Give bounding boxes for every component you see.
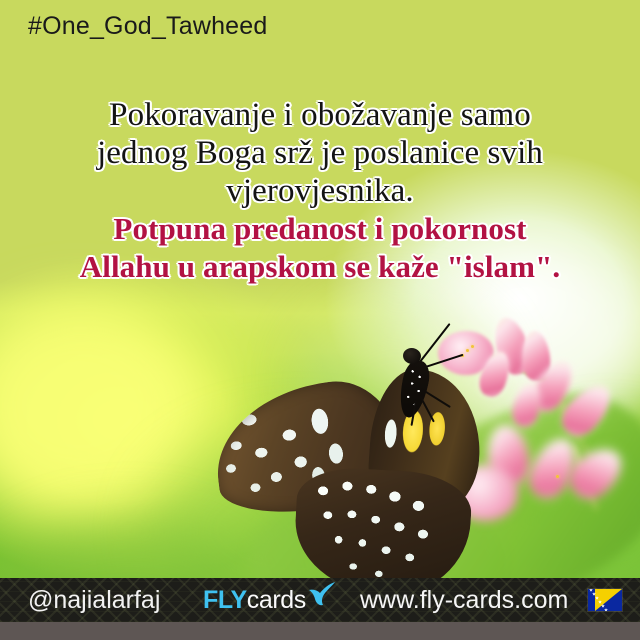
brand-second-part: cards xyxy=(247,586,306,615)
quote-line: vjerovjesnika. xyxy=(0,172,640,210)
quote-emphasis-line: Allahu u arapskom se kaže "islam". xyxy=(0,248,640,286)
blue-glassy-tiger-butterfly xyxy=(205,330,465,580)
quote-line: Pokoravanje i obožavanje samo xyxy=(0,96,640,134)
bosnia-and-herzegovina-flag xyxy=(588,589,622,611)
quote-emphasis-line: Potpuna predanost i pokornost xyxy=(0,210,640,248)
blue-bird-icon xyxy=(307,581,337,614)
brand-first-part: FLY xyxy=(203,586,247,615)
flycards-logo[interactable]: FLYcards xyxy=(203,586,337,615)
website-url[interactable]: www.fly-cards.com xyxy=(360,586,568,615)
hashtag-label: #One_God_Tawheed xyxy=(28,12,268,41)
social-handle[interactable]: @najialarfaj xyxy=(28,586,160,615)
quote-block: Pokoravanje i obožavanje samo jednog Bog… xyxy=(0,96,640,286)
quote-line: jednog Boga srž je poslanice svih xyxy=(0,134,640,172)
footer-bottom-strip xyxy=(0,622,640,640)
footer-bar: @najialarfaj FLYcards www.fly-cards.com xyxy=(0,578,640,622)
greeting-card: #One_God_Tawheed Pokoravanje i obožavanj… xyxy=(0,0,640,640)
